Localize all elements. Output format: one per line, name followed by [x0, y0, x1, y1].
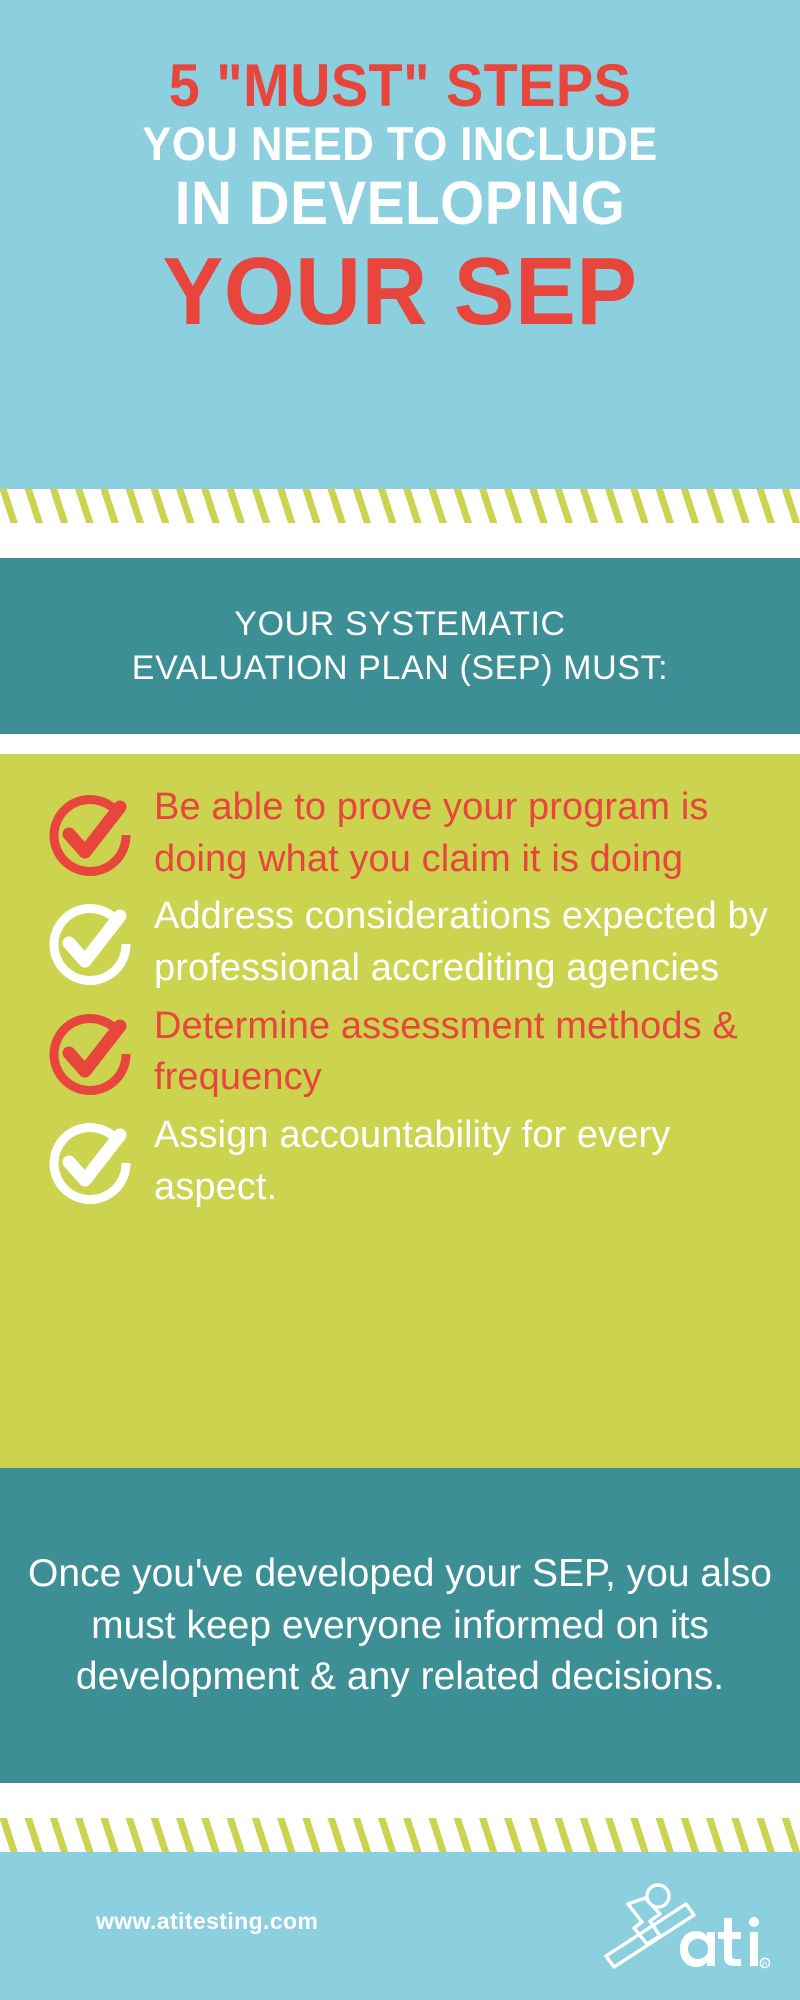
diagonal-stripes [0, 489, 800, 523]
svg-text:R: R [763, 1962, 768, 1968]
title-line-3: IN DEVELOPING [28, 173, 772, 234]
diagonal-stripes [0, 1818, 800, 1852]
list-item-label: Address considerations expected by profe… [154, 887, 774, 994]
circle-check-icon [40, 893, 140, 993]
ati-figure-logo: R [598, 1870, 770, 1982]
banner-line-1: YOUR SYSTEMATIC [234, 602, 565, 646]
list-item: Determine assessment methods & frequency [40, 997, 774, 1104]
footer-section: www.atitesting.com [0, 1852, 800, 2000]
stripe-divider-top [0, 489, 800, 523]
white-gap-mid [0, 734, 800, 754]
list-item: Assign accountability for every aspect. [40, 1106, 774, 1213]
checklist-section: Be able to prove your program is doing w… [0, 754, 800, 1468]
list-item-label: Be able to prove your program is doing w… [154, 778, 774, 885]
title-line-4: YOUR SEP [20, 244, 780, 340]
banner-section: YOUR SYSTEMATIC EVALUATION PLAN (SEP) MU… [0, 558, 800, 734]
stripe-divider-bottom [0, 1818, 800, 1852]
closing-section: Once you've developed your SEP, you also… [0, 1468, 800, 1783]
header-section: 5 "MUST" STEPS YOU NEED TO INCLUDE IN DE… [0, 0, 800, 489]
white-gap-upper [0, 523, 800, 558]
title-line-2: YOU NEED TO INCLUDE [28, 120, 772, 167]
infographic-page: 5 "MUST" STEPS YOU NEED TO INCLUDE IN DE… [0, 0, 800, 2000]
circle-check-icon [40, 1003, 140, 1103]
circle-check-icon [40, 784, 140, 884]
website-url[interactable]: www.atitesting.com [96, 1908, 318, 1935]
list-item: Address considerations expected by profe… [40, 887, 774, 994]
closing-text: Once you've developed your SEP, you also… [26, 1548, 774, 1702]
list-item-label: Assign accountability for every aspect. [154, 1106, 774, 1213]
white-gap-lower [0, 1783, 800, 1818]
list-item-label: Determine assessment methods & frequency [154, 997, 774, 1104]
banner-line-2: EVALUATION PLAN (SEP) MUST: [132, 646, 668, 690]
list-item: Be able to prove your program is doing w… [40, 778, 774, 885]
title-line-1: 5 "MUST" STEPS [28, 56, 772, 116]
circle-check-icon [40, 1112, 140, 1212]
